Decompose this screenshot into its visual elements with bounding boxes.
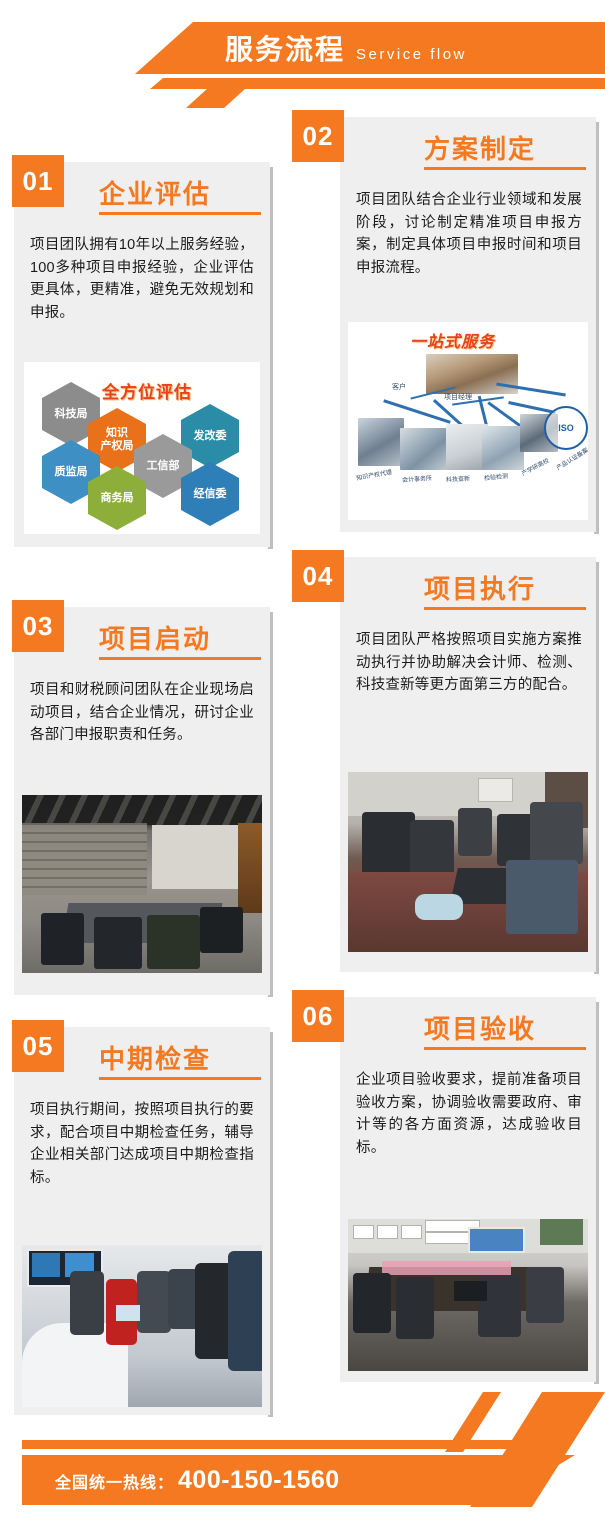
card-01-body: 项目团队拥有10年以上服务经验，100多种项目申报经验，企业评估更具体，更精准，… — [30, 234, 254, 324]
card-05-number-badge: 05 — [12, 1020, 64, 1072]
card-02-title: 方案制定 — [424, 129, 536, 166]
card-03-number-badge: 03 — [12, 600, 64, 652]
service-flow-infographic: 服务流程 Service flow 企业评估 项目团队拥有10年以上服务经验，1… — [0, 0, 605, 1538]
footer-hotline-label: 全国统一热线： — [55, 1470, 174, 1498]
conference-room-photo — [22, 795, 262, 973]
one-stop-label-tech: 科技查新 — [446, 473, 470, 483]
header-title-group: 服务流程 Service flow — [225, 33, 467, 67]
card-05: 中期检查 项目执行期间，按照项目执行的要求，配合项目中期检查任务，辅导企业相关部… — [14, 1027, 270, 1415]
card-04-number-badge: 04 — [292, 550, 344, 602]
one-stop-thumb-ip — [358, 418, 404, 466]
footer-hotline-number[interactable]: 400-150-1560 — [178, 1466, 340, 1494]
card-06-title: 项目验收 — [424, 1009, 536, 1046]
one-stop-service-diagram: 一站式服务 客户 项目经理 ISO 知识产权代理 会计事务所 科技查新 检验检测… — [348, 322, 588, 520]
card-05-body: 项目执行期间，按照项目执行的要求，配合项目中期检查任务，辅导企业相关部门达成项目… — [30, 1099, 254, 1189]
card-03-body: 项目和财税顾问团队在企业现场启动项目，结合企业情况，研讨企业各部门申报职责和任务… — [30, 679, 254, 747]
footer-hotline-group: 全国统一热线： 400-150-1560 — [55, 1466, 340, 1494]
card-02: 方案制定 项目团队结合企业行业领域和发展阶段，讨论制定精准项目申报方案，制定具体… — [340, 117, 596, 532]
card-02-title-rule — [424, 167, 586, 170]
card-01-title-rule — [99, 212, 261, 215]
card-06-number-badge: 06 — [292, 990, 344, 1042]
one-stop-thumb-accounting — [400, 428, 448, 470]
page-title: 服务流程 — [225, 33, 345, 67]
page-subtitle: Service flow — [356, 45, 467, 65]
card-04: 项目执行 项目团队严格按照项目实施方案推动执行并协助解决会计师、检测、科技查新等… — [340, 557, 596, 972]
card-03-title-rule — [99, 657, 261, 660]
one-stop-label-university: 产学研高校 — [520, 455, 551, 477]
card-01-number-badge: 01 — [12, 155, 64, 207]
card-05-title-rule — [99, 1077, 261, 1080]
header-chevron-accent — [186, 88, 246, 108]
card-03-title: 项目启动 — [99, 619, 211, 656]
one-stop-label-accounting: 会计事务所 — [402, 473, 433, 484]
card-02-body: 项目团队结合企业行业领域和发展阶段，讨论制定精准项目申报方案，制定具体项目申报时… — [356, 189, 582, 279]
one-stop-label-ip: 知识产权代理 — [355, 467, 392, 482]
one-stop-thumb-inspection — [482, 426, 524, 470]
boardroom-meeting-photo — [348, 1219, 588, 1371]
header-banner: 服务流程 Service flow — [0, 0, 605, 105]
card-01-title: 企业评估 — [99, 174, 211, 211]
one-stop-meeting-thumb — [426, 354, 518, 394]
one-stop-diagram-title: 一站式服务 — [410, 328, 495, 352]
footer-top-stripe — [22, 1440, 575, 1449]
one-stop-arrow-8 — [508, 401, 556, 414]
hexagon-assessment-diagram: 全方位评估 科技局 知识 产权局 发改委 质监局 工信部 经信委 商务局 — [24, 362, 260, 534]
showroom-visit-photo — [22, 1245, 262, 1407]
card-04-title: 项目执行 — [424, 569, 536, 606]
hexagon-diagram-title: 全方位评估 — [102, 378, 192, 403]
card-01: 企业评估 项目团队拥有10年以上服务经验，100多种项目申报经验，企业评估更具体… — [14, 162, 270, 547]
header-bar-secondary — [150, 78, 605, 89]
card-03: 项目启动 项目和财税顾问团队在企业现场启动项目，结合企业情况，研讨企业各部门申报… — [14, 607, 270, 995]
card-06-title-rule — [424, 1047, 586, 1050]
card-05-title: 中期检查 — [99, 1039, 211, 1076]
card-06: 项目验收 企业项目验收要求，提前准备项目验收方案，协调验收需要政府、审计等的各方… — [340, 997, 596, 1382]
card-04-body: 项目团队严格按照项目实施方案推动执行并协助解决会计师、检测、科技查新等更方面第三… — [356, 629, 582, 697]
one-stop-label-inspection: 检验检测 — [484, 471, 509, 482]
card-04-title-rule — [424, 607, 586, 610]
card-02-number-badge: 02 — [292, 110, 344, 162]
card-06-body: 企业项目验收要求，提前准备项目验收方案，协调验收需要政府、审计等的各方面资源，达… — [356, 1069, 582, 1159]
one-stop-node-manager: 项目经理 — [444, 392, 472, 402]
one-stop-iso-seal: ISO — [544, 406, 588, 450]
one-stop-node-customer: 客户 — [392, 382, 406, 392]
meeting-work-photo — [348, 772, 588, 952]
